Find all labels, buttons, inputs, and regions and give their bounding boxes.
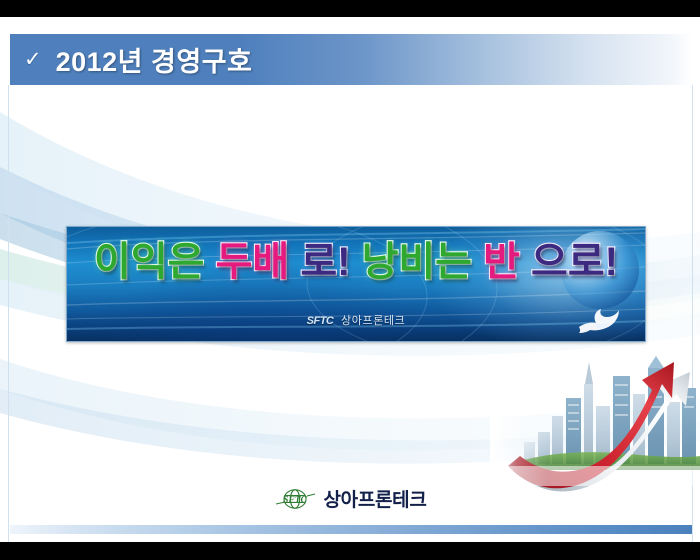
slogan-text: 이익은 두배 로! 낭비는 반 으로! [67, 241, 645, 283]
slide-title-bar: ✓ 2012년 경영구호 [10, 34, 692, 85]
slide-left-guide-rule [8, 85, 9, 542]
banner-sublogo: SFTC 상아프론테크 [67, 312, 645, 328]
banner-company-name: 상아프론테크 [341, 315, 405, 327]
slogan-word-6: 으로! [531, 240, 618, 284]
slide-canvas: ✓ 2012년 경영구호 [0, 17, 700, 542]
sftc-globe-logo-icon: SFTC [273, 488, 317, 510]
slide-right-guide-rule [692, 85, 693, 542]
footer-company-name: 상아프론테크 [323, 485, 426, 512]
slogan-word-2: 두배 [216, 240, 290, 284]
page-title: 2012년 경영구호 [56, 40, 253, 79]
checkmark-icon: ✓ [24, 49, 42, 70]
slogan-banner: 이익은 두배 로! 낭비는 반 으로! SFTC 상아프론테크 [66, 226, 646, 342]
slogan-word-3: 로! [300, 240, 350, 284]
presentation-stage: ✓ 2012년 경영구호 [0, 0, 700, 560]
footer-logo: SFTC 상아프론테크 [0, 485, 700, 512]
slogan-word-4: 낭비는 [362, 240, 472, 284]
slogan-word-5: 반 [483, 240, 520, 284]
slide-title-content: ✓ 2012년 경영구호 [10, 34, 692, 85]
banner-sftc-mark-icon: SFTC [307, 315, 334, 327]
footer-accent-bar [10, 525, 692, 534]
slogan-word-1: 이익은 [94, 240, 204, 284]
svg-text:SFTC: SFTC [284, 495, 308, 505]
